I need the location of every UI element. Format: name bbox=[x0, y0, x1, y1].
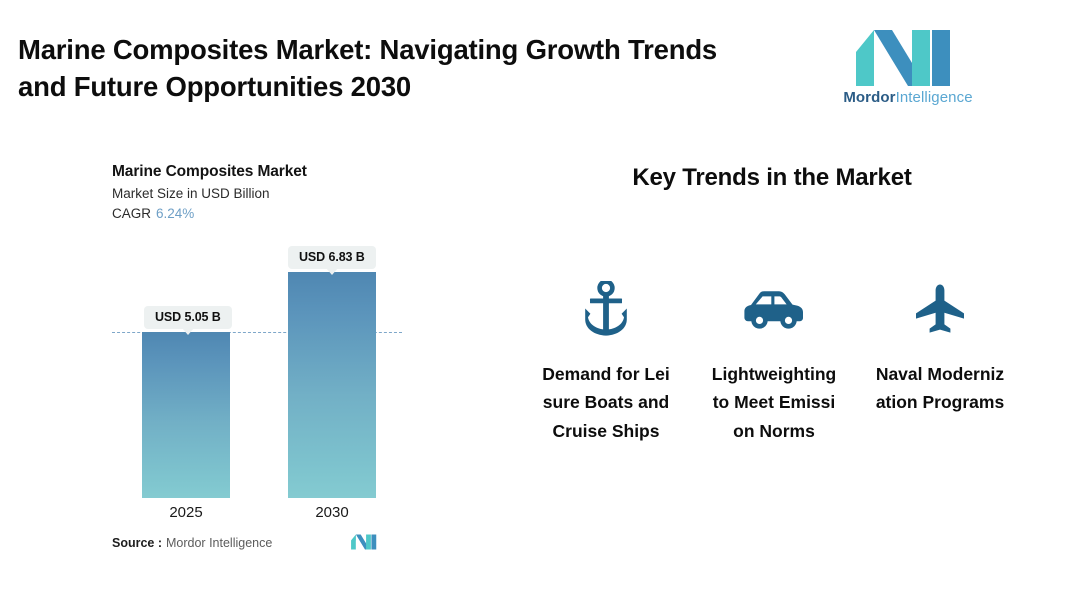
brand-wordmark: MordorIntelligence bbox=[838, 89, 978, 106]
trend-item-naval-modernization: Naval Modernization Programs bbox=[874, 280, 1006, 417]
mordor-m-logo-icon bbox=[852, 30, 964, 86]
trend-label-1: Lightweighting to Meet Emission Norms bbox=[708, 360, 840, 445]
page-title: Marine Composites Market: Navigating Gro… bbox=[18, 32, 808, 105]
airplane-icon bbox=[874, 280, 1006, 338]
trend-label-0: Demand for Leisure Boats and Cruise Ship… bbox=[540, 360, 672, 445]
bar-2030 bbox=[288, 272, 376, 498]
bar-chart-plot-area: USD 5.05 B USD 6.83 B 2025 2030 bbox=[0, 140, 470, 570]
bar-value-label-2030: USD 6.83 B bbox=[288, 246, 376, 269]
brand-word-intelligence: Intelligence bbox=[896, 89, 973, 106]
source-value: Mordor Intelligence bbox=[166, 536, 272, 550]
anchor-icon bbox=[540, 280, 672, 338]
key-trends-heading: Key Trends in the Market bbox=[470, 164, 1074, 192]
bar-2025 bbox=[142, 332, 230, 498]
trend-item-lightweighting: Lightweighting to Meet Emission Norms bbox=[708, 280, 840, 445]
bar-value-label-2025: USD 5.05 B bbox=[144, 306, 232, 329]
brand-word-mordor: Mordor bbox=[843, 89, 895, 106]
brand-logo: MordorIntelligence bbox=[838, 30, 978, 110]
chart-source: Source : Mordor Intelligence bbox=[112, 533, 402, 557]
mordor-m-logo-icon bbox=[350, 533, 380, 551]
source-label: Source : bbox=[112, 536, 162, 550]
x-axis-label-2025: 2025 bbox=[142, 504, 230, 521]
trend-label-2: Naval Modernization Programs bbox=[874, 360, 1006, 417]
x-axis-label-2030: 2030 bbox=[288, 504, 376, 521]
trend-item-leisure-boats: Demand for Leisure Boats and Cruise Ship… bbox=[540, 280, 672, 445]
car-icon bbox=[708, 280, 840, 338]
key-trends-panel: Key Trends in the Market Demand for Leis… bbox=[470, 140, 1074, 570]
chart-panel: Marine Composites Market Market Size in … bbox=[0, 140, 470, 570]
